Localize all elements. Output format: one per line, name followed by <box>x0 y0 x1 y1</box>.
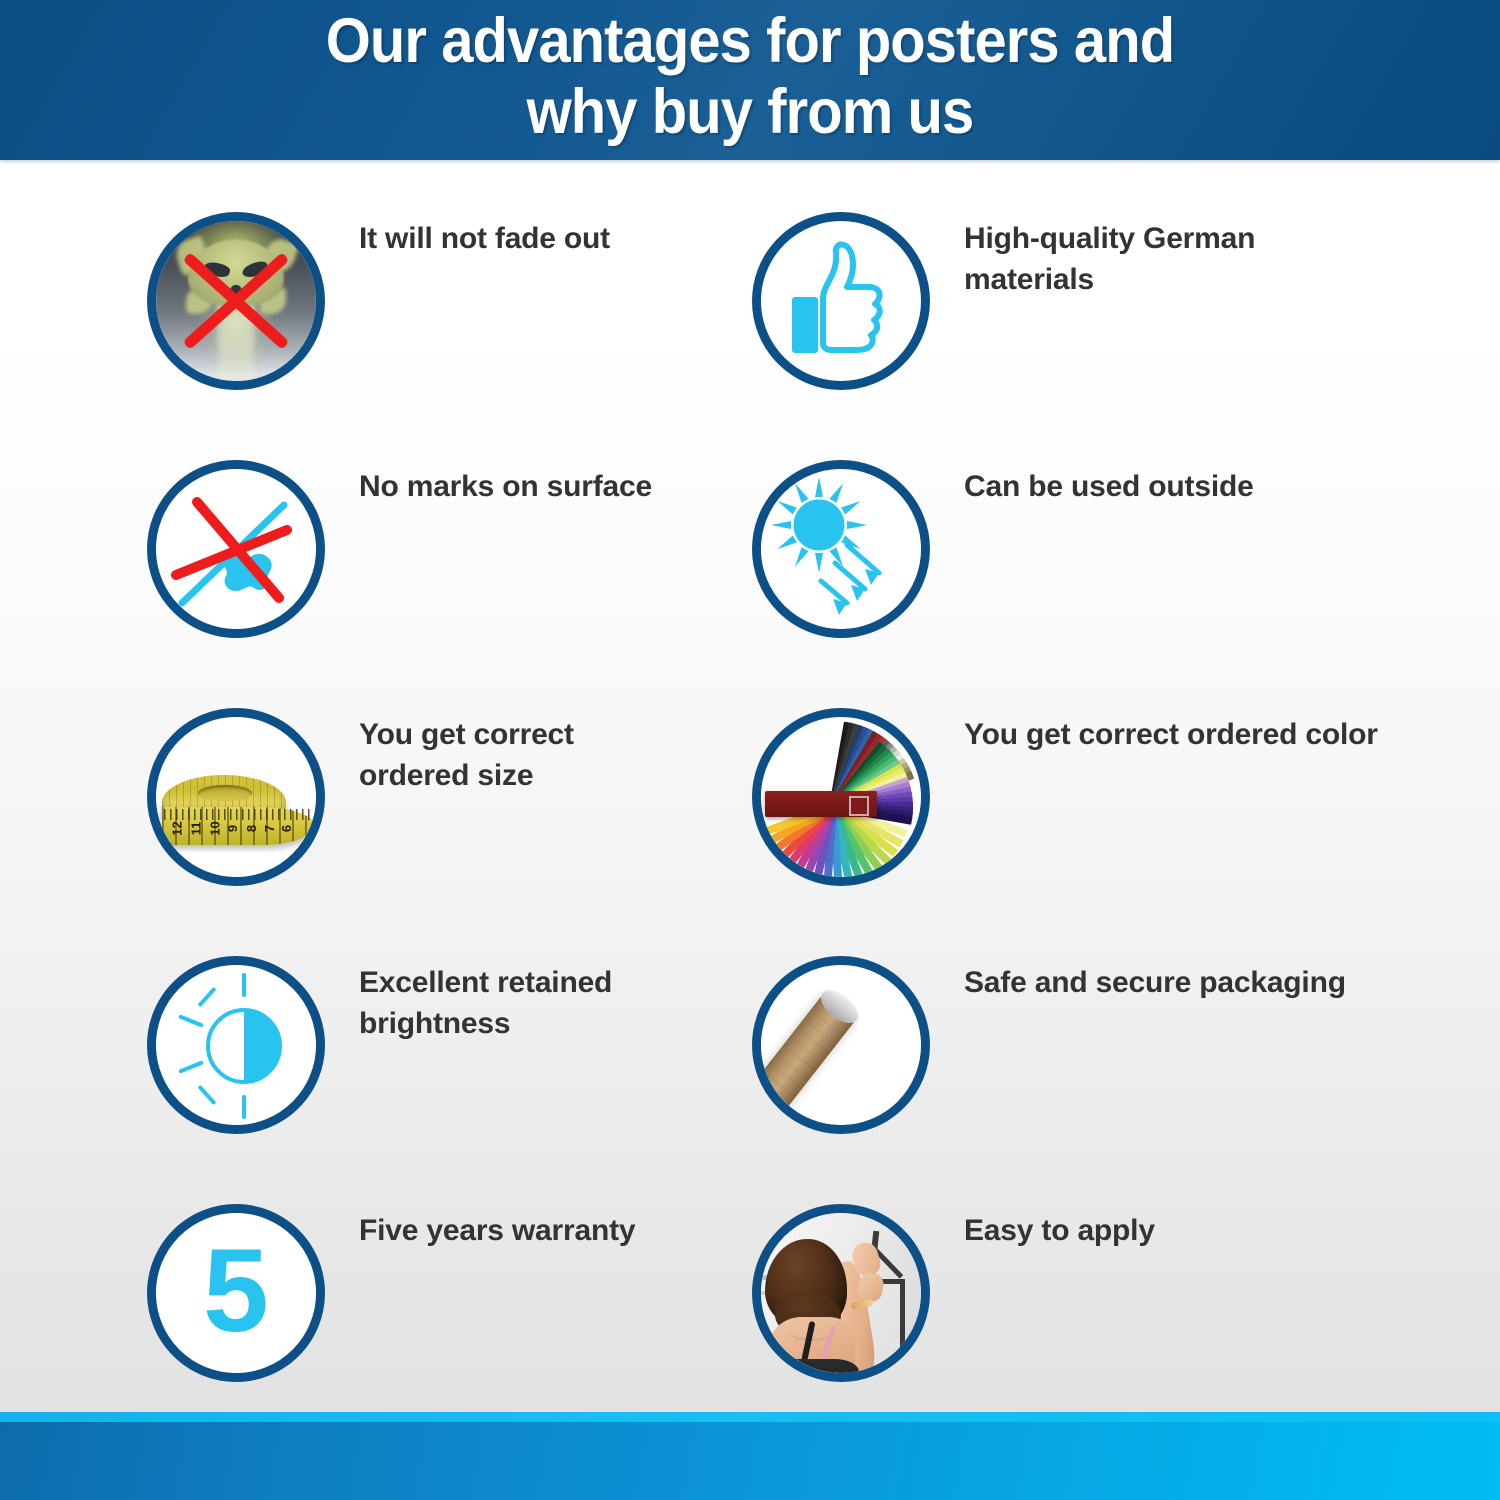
advantages-infographic: Our advantages for posters and why buy f… <box>0 0 1500 1500</box>
badge-color <box>752 708 930 886</box>
measuring-tape-icon: 12 11 10 9 8 7 6 <box>156 717 316 877</box>
badge-packaging <box>752 956 930 1134</box>
fan-handle <box>765 791 877 817</box>
badge-size: 12 11 10 9 8 7 6 <box>147 708 325 886</box>
feature-label-packaging: Safe and secure packaging <box>964 962 1346 1003</box>
color-fan-deck-icon <box>761 717 921 877</box>
feature-item-color: You get correct ordered color <box>752 708 1392 958</box>
brightness-half-disc-icon <box>156 965 316 1125</box>
footer-bar <box>0 1422 1500 1500</box>
feature-label-brightness: Excellent retained brightness <box>359 962 612 1044</box>
page-title: Our advantages for posters and why buy f… <box>60 6 1440 148</box>
feature-label-size: You get correct ordered size <box>359 714 574 796</box>
header-banner: Our advantages for posters and why buy f… <box>0 0 1500 160</box>
badge-fade <box>147 212 325 390</box>
badge-marks <box>147 460 325 638</box>
badge-german <box>752 212 930 390</box>
badge-brightness <box>147 956 325 1134</box>
feature-label-color: You get correct ordered color <box>964 714 1378 755</box>
feature-item-size: 12 11 10 9 8 7 6 You get correct ordered… <box>147 708 787 958</box>
feature-item-packaging: Safe and secure packaging <box>752 956 1392 1206</box>
red-cross-icon <box>156 221 316 381</box>
feature-label-outside: Can be used outside <box>964 466 1254 507</box>
warranty-years-value: 5 <box>203 1232 269 1350</box>
feature-item-german: High-quality German materials <box>752 212 1392 462</box>
footer-accent-line <box>0 1412 1500 1422</box>
woman-applying-poster-icon <box>761 1213 921 1373</box>
badge-apply <box>752 1204 930 1382</box>
feature-item-marks: No marks on surface <box>147 460 787 710</box>
feature-item-fade: It will not fade out <box>147 212 787 462</box>
feature-label-marks: No marks on surface <box>359 466 652 507</box>
badge-warranty: 5 <box>147 1204 325 1382</box>
feature-item-outside: Can be used outside <box>752 460 1392 710</box>
mailing-tube-icon <box>761 965 921 1125</box>
sun-with-rays-icon <box>761 469 921 629</box>
features-grid: It will not fade out High-quality German… <box>0 160 1500 1410</box>
feature-label-fade: It will not fade out <box>359 218 610 259</box>
no-marks-crossed-out-icon <box>156 469 316 629</box>
feature-item-brightness: Excellent retained brightness <box>147 956 787 1206</box>
number-five-icon: 5 <box>156 1213 316 1373</box>
feature-label-apply: Easy to apply <box>964 1210 1155 1251</box>
badge-outside <box>752 460 930 638</box>
feature-label-german: High-quality German materials <box>964 218 1392 300</box>
feature-label-warranty: Five years warranty <box>359 1210 635 1251</box>
thumbs-up-icon <box>761 221 921 381</box>
